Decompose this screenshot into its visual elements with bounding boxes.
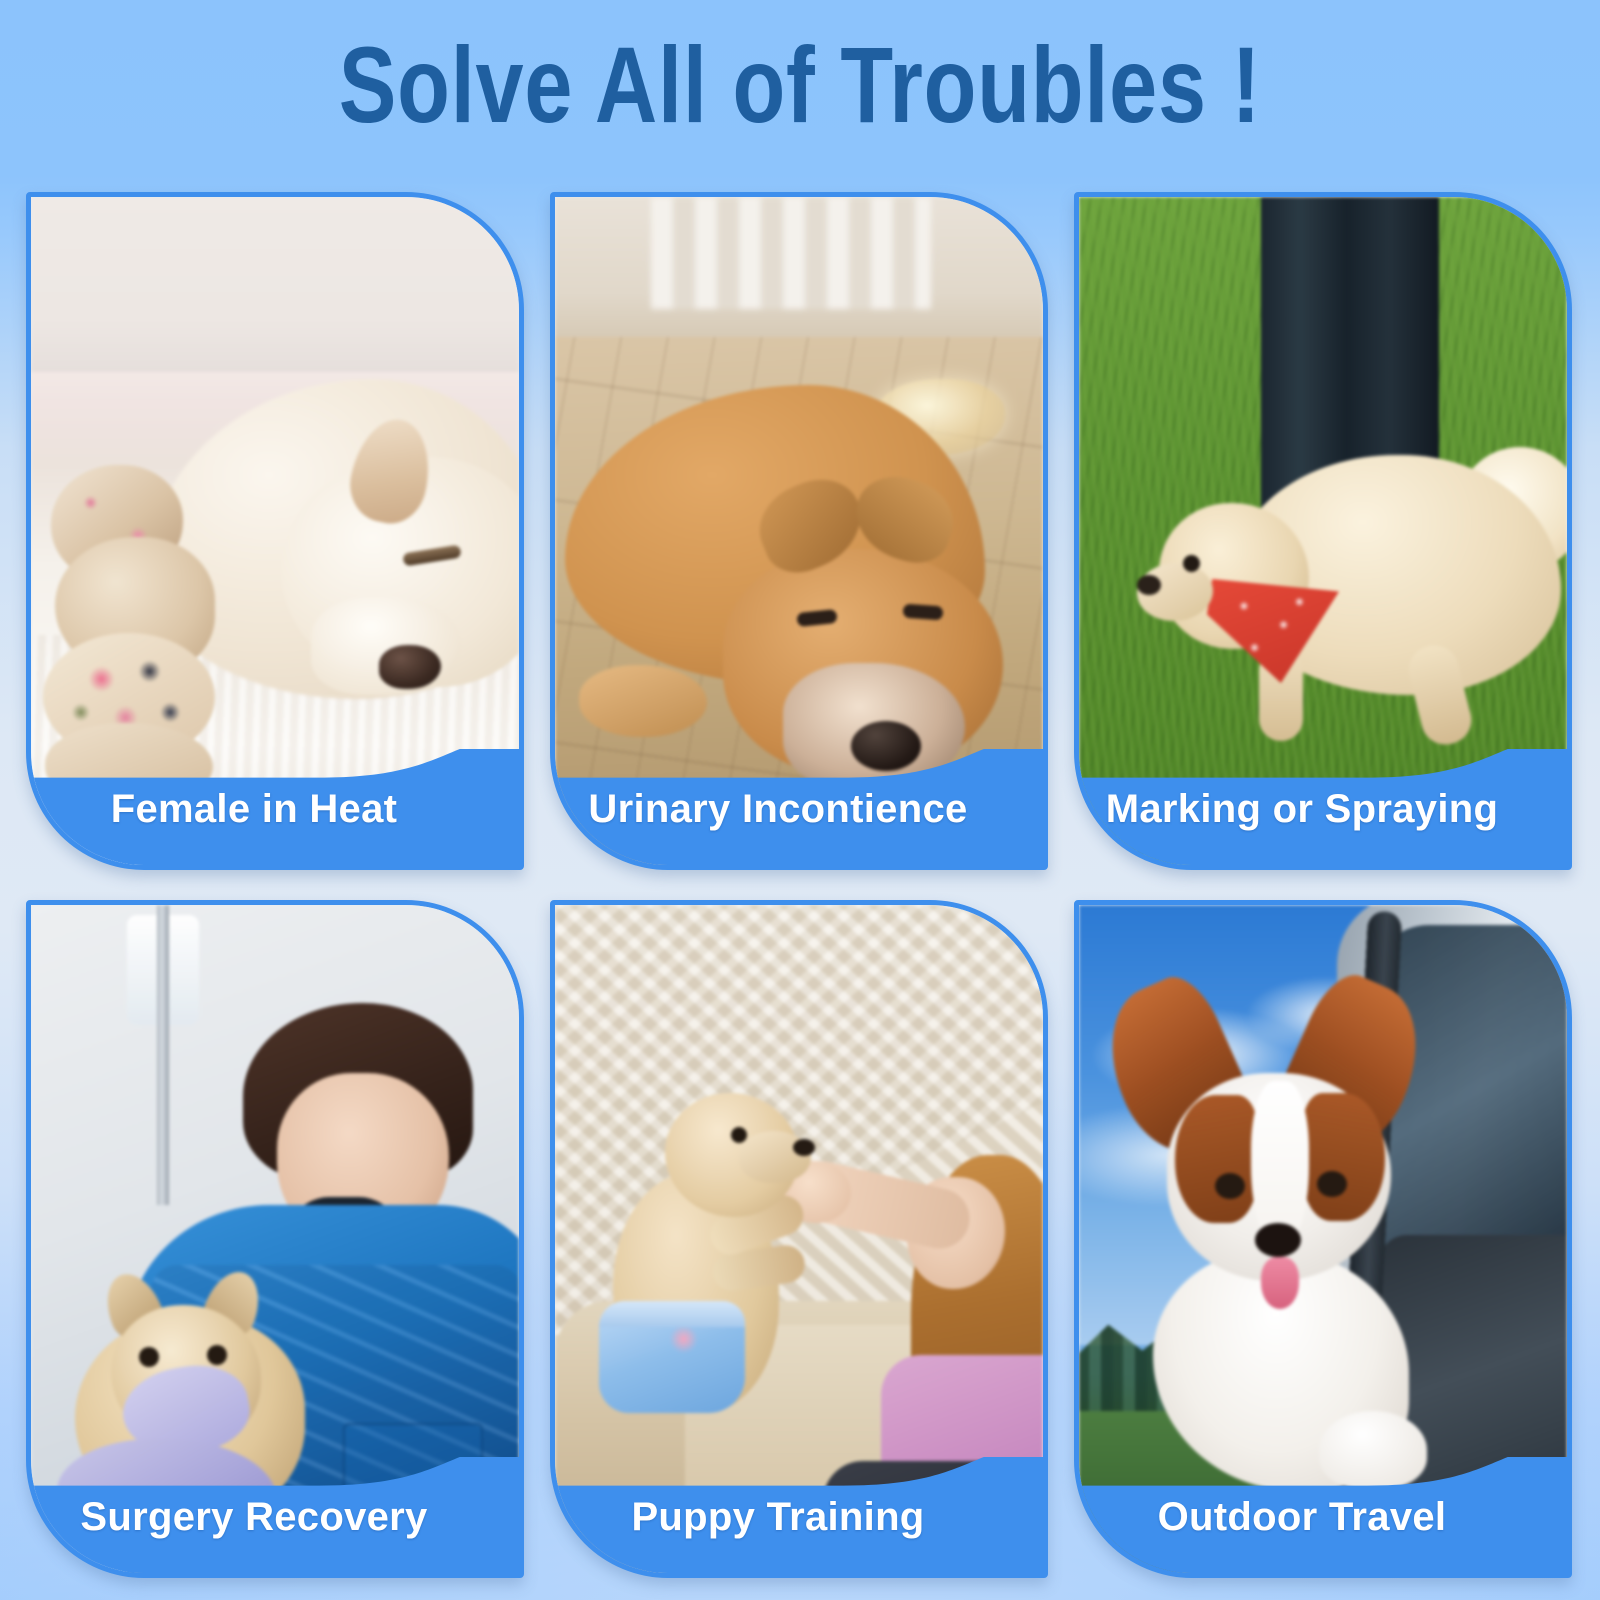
benefit-card-female-in-heat[interactable]: Female in Heat <box>26 192 524 870</box>
infographic-page: Solve All of Troubles ! Female in Heat <box>0 0 1600 1600</box>
benefit-card-grid: Female in Heat Urinary <box>26 192 1574 1578</box>
benefit-card-outdoor-travel[interactable]: Outdoor Travel <box>1074 900 1572 1578</box>
page-title: Solve All of Troubles ! <box>160 26 1440 144</box>
photo-marking-or-spraying <box>1079 197 1567 865</box>
photo-puppy-training <box>555 905 1043 1573</box>
photo-urinary-incontience <box>555 197 1043 865</box>
benefit-card-urinary-incontience[interactable]: Urinary Incontience <box>550 192 1048 870</box>
photo-female-in-heat <box>31 197 519 865</box>
benefit-card-puppy-training[interactable]: Puppy Training <box>550 900 1048 1578</box>
photo-surgery-recovery <box>31 905 519 1573</box>
benefit-card-marking-or-spraying[interactable]: Marking or Spraying <box>1074 192 1572 870</box>
benefit-card-surgery-recovery[interactable]: Surgery Recovery <box>26 900 524 1578</box>
photo-outdoor-travel <box>1079 905 1567 1573</box>
